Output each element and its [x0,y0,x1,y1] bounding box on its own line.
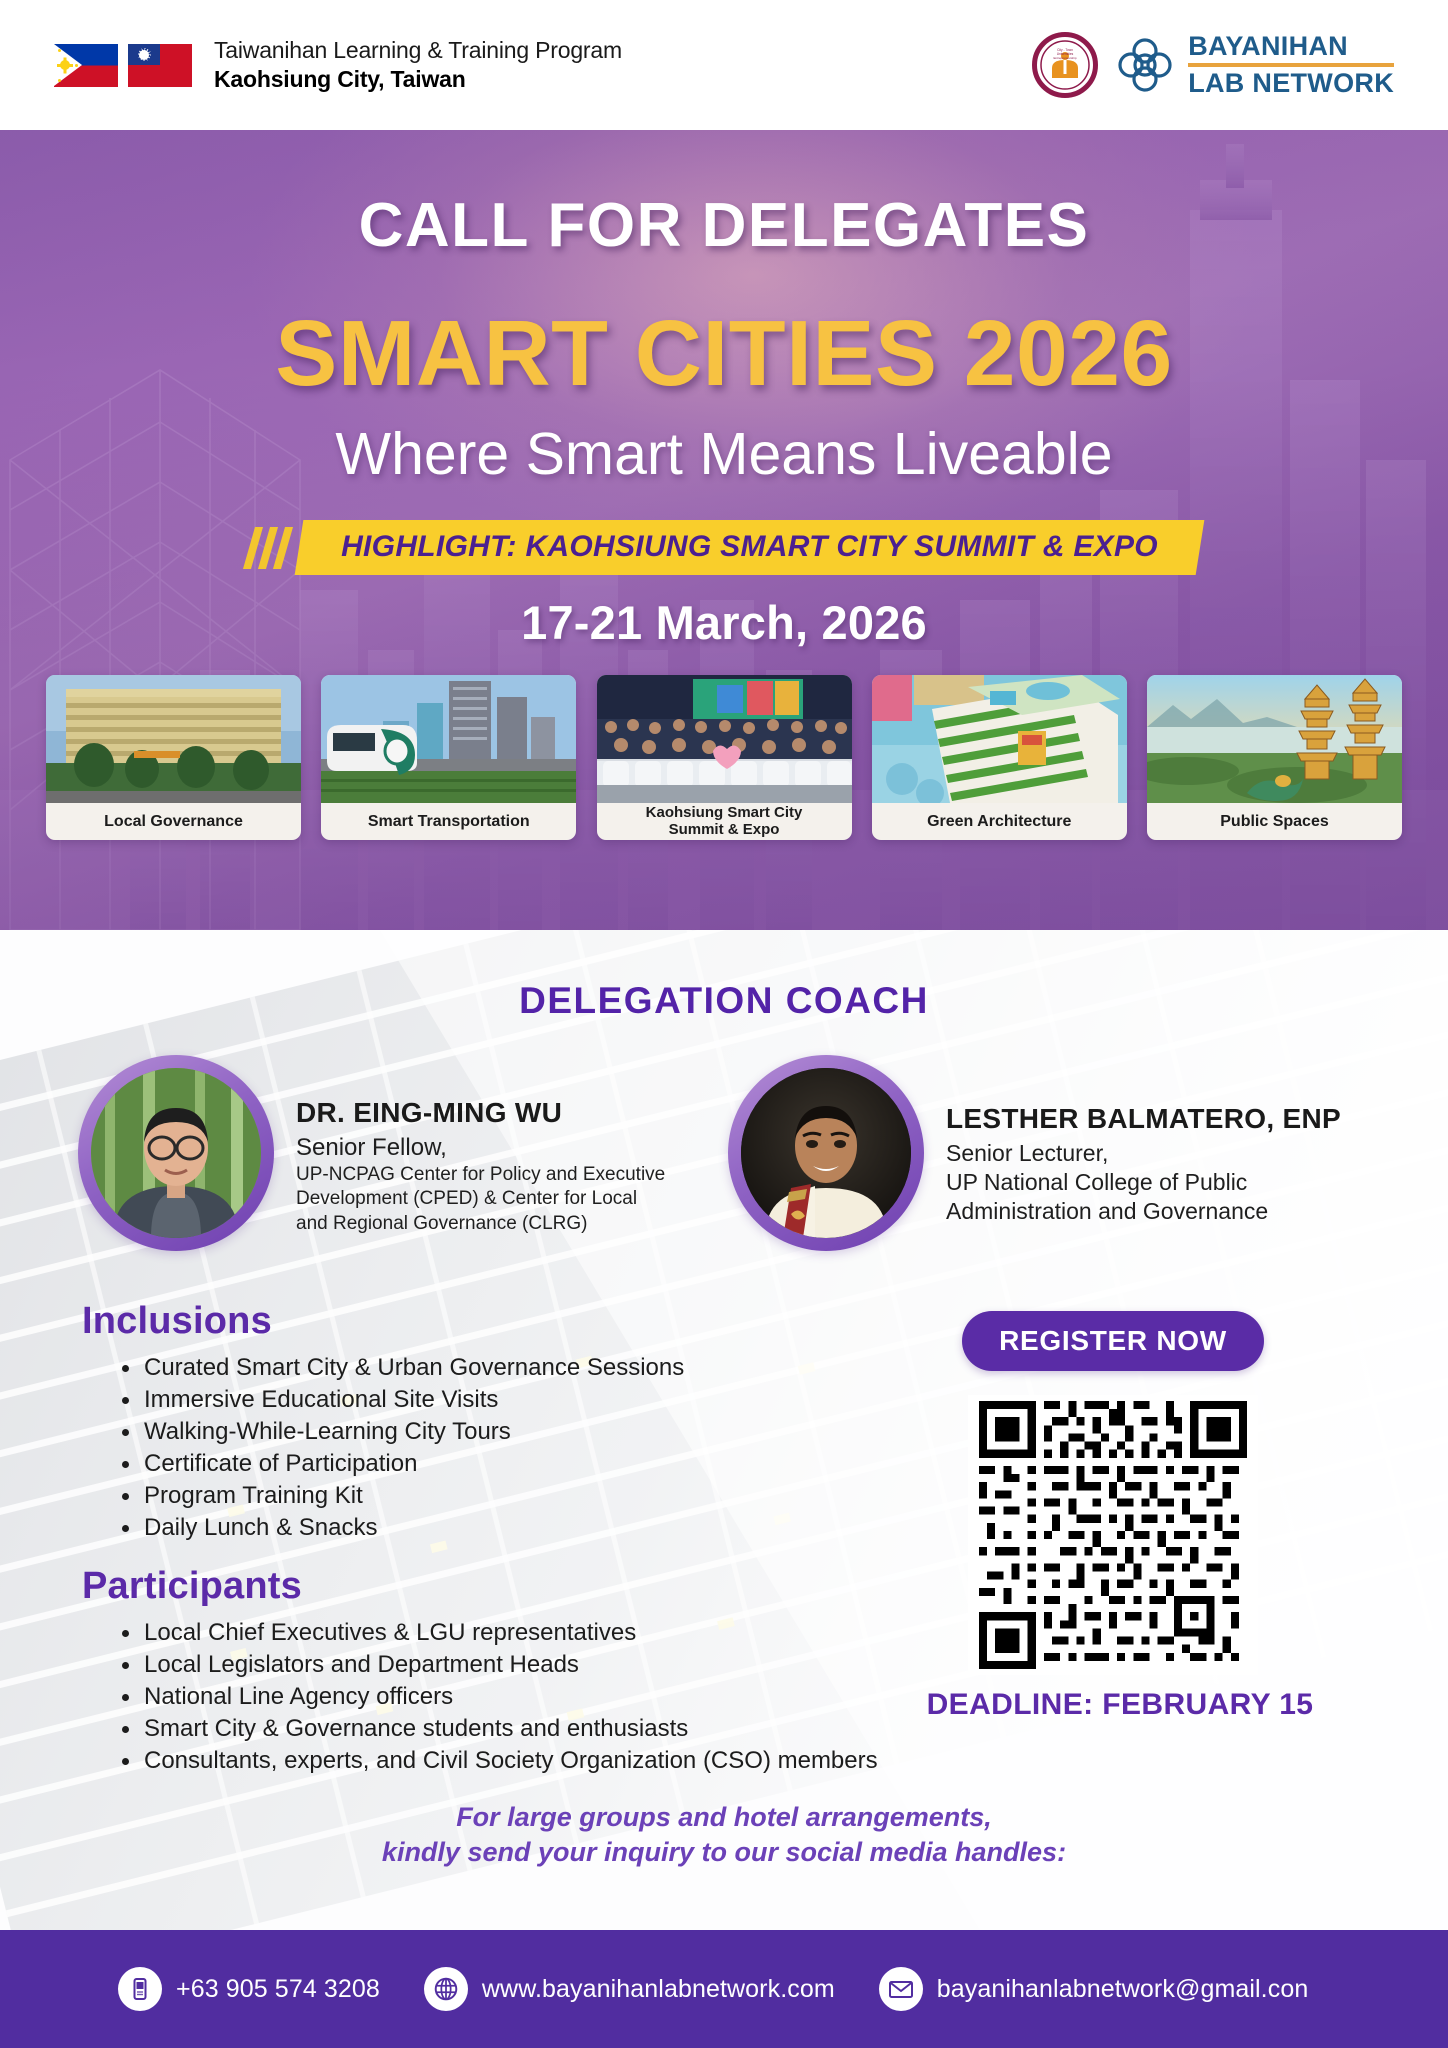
list-item: National Line Agency officers [118,1681,878,1713]
light-rail-tram-photo [321,675,576,803]
portrait-lesther-balmatero [741,1068,911,1238]
thumbnail-card-local-governance[interactable]: Local Governance [46,675,301,840]
taiwan-flag-icon [128,44,192,87]
green-building-photo [872,675,1127,803]
coach-info-2: LESTHER BALMATERO, ENP Senior Lecturer, … [946,1055,1341,1225]
register-button-label: REGISTER NOW [999,1325,1227,1357]
coach-org-line-2: Development (CPED) & Center for Local [296,1187,665,1210]
list-item: Immersive Educational Site Visits [118,1384,684,1416]
deadline-text: DEADLINE: FEBRUARY 15 [920,1688,1320,1722]
list-item: Program Training Kit [118,1480,684,1512]
thumbnail-card-smart-transportation[interactable]: Smart Transportation [321,675,576,840]
inclusions-heading: Inclusions [82,1300,272,1343]
main-title: SMART CITIES 2026 [0,300,1448,407]
list-item: Smart City & Governance students and ent… [118,1713,878,1745]
lotus-pond-pagodas-photo [1147,675,1402,803]
coach-card-2: LESTHER BALMATERO, ENP Senior Lecturer, … [728,1055,1341,1251]
inclusions-list: Curated Smart City & Urban Governance Se… [118,1352,684,1543]
coach-role: Senior Fellow, [296,1133,665,1162]
avatar [78,1055,274,1251]
coach-org-line-2: Administration and Governance [946,1197,1341,1225]
flag-star [75,64,78,67]
university-seal-icon: City - Town Universities Entrepreneurshi… [1032,32,1098,98]
philippines-flag-icon [54,44,118,87]
mobile-phone-icon [118,1967,162,2011]
coach-role: Senior Lecturer, [946,1139,1341,1167]
program-name: Taiwanihan Learning & Training Program [214,36,622,65]
conference-group-photo [597,675,852,803]
inquiry-note: For large groups and hotel arrangements,… [0,1800,1448,1869]
coach-name: DR. EING-MING WU [296,1097,665,1129]
flag-sun [139,50,149,60]
coach-info-1: DR. EING-MING WU Senior Fellow, UP-NCPAG… [296,1055,665,1235]
brand-line-2: LAB NETWORK [1188,67,1394,97]
envelope-icon [879,1967,923,2011]
list-item: Local Legislators and Department Heads [118,1649,878,1681]
list-item: Consultants, experts, and Civil Society … [118,1745,878,1777]
delegation-coach-heading: DELEGATION COACH [0,980,1448,1022]
portrait-eing-ming-wu [91,1068,261,1238]
event-dates: 17-21 March, 2026 [0,595,1448,650]
flag-sun [60,60,70,70]
slash-decoration-icon [249,527,287,569]
thumbnail-caption: Smart Transportation [321,803,576,840]
top-bar: Taiwanihan Learning & Training Program K… [0,0,1448,130]
phone-number: +63 905 574 3208 [176,1975,380,2004]
footer-phone[interactable]: +63 905 574 3208 [118,1967,380,2011]
register-now-button[interactable]: REGISTER NOW [962,1311,1264,1371]
thumbnail-caption: Public Spaces [1147,803,1402,840]
svg-text:Entrepreneurship: Entrepreneurship [1054,56,1077,60]
inquiry-line-2: kindly send your inquiry to our social m… [382,1837,1066,1867]
flag-star [58,49,61,52]
caption-line-1: Kaohsiung Smart City [646,804,803,821]
thumbnail-caption: Local Governance [46,803,301,840]
thumbnail-caption: Kaohsiung Smart CitySummit & Expo [597,803,852,840]
coach-org-line-1: UP-NCPAG Center for Policy and Executive [296,1163,665,1186]
coach-card-1: DR. EING-MING WU Senior Fellow, UP-NCPAG… [78,1055,665,1251]
participants-list: Local Chief Executives & LGU representat… [118,1617,878,1777]
qr-code-icon [974,1401,1252,1669]
list-item: Walking-While-Learning City Tours [118,1416,684,1448]
highlight-banner: HIGHLIGHT: KAOHSIUNG SMART CITY SUMMIT &… [0,520,1448,575]
footer-website[interactable]: www.bayanihanlabnetwork.com [424,1967,835,2011]
tagline: Where Smart Means Liveable [0,420,1448,488]
participants-heading: Participants [82,1565,302,1608]
thumbnail-card-green-architecture[interactable]: Green Architecture [872,675,1127,840]
avatar [728,1055,924,1251]
brand-wordmark: BAYANIHAN LAB NETWORK [1188,33,1394,97]
footer-contact-bar: +63 905 574 3208 www.bayanihanlabnetwork… [0,1930,1448,2048]
coach-name: LESTHER BALMATERO, ENP [946,1103,1341,1135]
bayanihan-lab-network-logo: BAYANIHAN LAB NETWORK [1112,32,1394,98]
coach-org-line-3: and Regional Governance (CLRG) [296,1212,665,1235]
brand-line-1: BAYANIHAN [1188,33,1394,67]
thumbnail-caption: Green Architecture [872,803,1127,840]
hero-section: CALL FOR DELEGATES SMART CITIES 2026 Whe… [0,130,1448,930]
flag-star [58,79,61,82]
email-address: bayanihanlabnetwork@gmail.con [937,1975,1309,2004]
poster-root: Taiwanihan Learning & Training Program K… [0,0,1448,2048]
program-location: Kaohsiung City, Taiwan [214,65,622,94]
program-title-block: Taiwanihan Learning & Training Program K… [214,36,622,94]
website-url: www.bayanihanlabnetwork.com [482,1975,835,2004]
inquiry-line-1: For large groups and hotel arrangements, [456,1802,992,1832]
coach-org-line-1: UP National College of Public [946,1168,1341,1196]
caption-line-2: Summit & Expo [669,821,780,838]
list-item: Daily Lunch & Snacks [118,1512,684,1544]
thumbnail-card-summit-expo[interactable]: Kaohsiung Smart CitySummit & Expo [597,675,852,840]
list-item: Curated Smart City & Urban Governance Se… [118,1352,684,1384]
globe-icon [424,1967,468,2011]
highlight-text: HIGHLIGHT: KAOHSIUNG SMART CITY SUMMIT &… [341,530,1158,564]
government-building-photo [46,675,301,803]
thumbnail-card-public-spaces[interactable]: Public Spaces [1147,675,1402,840]
partner-logos: City - Town Universities Entrepreneurshi… [1032,32,1394,98]
flag-group [54,44,192,87]
call-for-delegates-title: CALL FOR DELEGATES [0,190,1448,261]
thumbnail-strip: Local Governance [46,675,1402,840]
list-item: Local Chief Executives & LGU representat… [118,1617,878,1649]
footer-email[interactable]: bayanihanlabnetwork@gmail.con [879,1967,1309,2011]
qr-code[interactable] [968,1395,1258,1675]
bayanihan-flower-icon [1112,32,1178,98]
list-item: Certificate of Participation [118,1448,684,1480]
